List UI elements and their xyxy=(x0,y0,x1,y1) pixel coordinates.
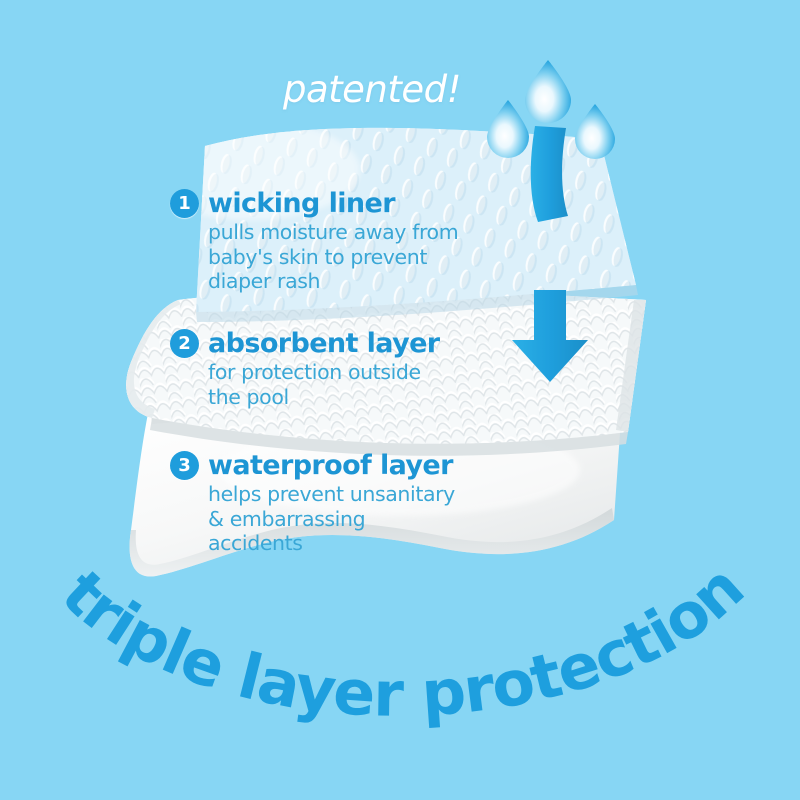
product-infographic: patented! 1 wicking liner pulls moisture… xyxy=(0,0,800,800)
feature-description-1: pulls moisture away from baby's skin to … xyxy=(170,220,500,294)
step-number-badge-1: 1 xyxy=(170,189,199,218)
headline-triple-layer-protection: triple layer protection xyxy=(0,540,800,780)
feature-heading: 3 waterproof layer xyxy=(170,450,500,481)
feature-title-2: absorbent layer xyxy=(208,328,440,359)
step-number-badge-2: 2 xyxy=(170,329,199,358)
feature-title-3: waterproof layer xyxy=(208,450,453,481)
step-number-badge-3: 3 xyxy=(170,451,199,480)
feature-absorbent-layer: 2 absorbent layer for protection outside… xyxy=(170,328,500,409)
feature-wicking-liner: 1 wicking liner pulls moisture away from… xyxy=(170,188,500,294)
feature-description-2: for protection outside the pool xyxy=(170,360,500,409)
feature-heading: 2 absorbent layer xyxy=(170,328,500,359)
patented-label: patented! xyxy=(283,68,461,111)
feature-heading: 1 wicking liner xyxy=(170,188,500,219)
feature-title-1: wicking liner xyxy=(208,188,395,219)
headline-text: triple layer protection xyxy=(48,551,757,731)
